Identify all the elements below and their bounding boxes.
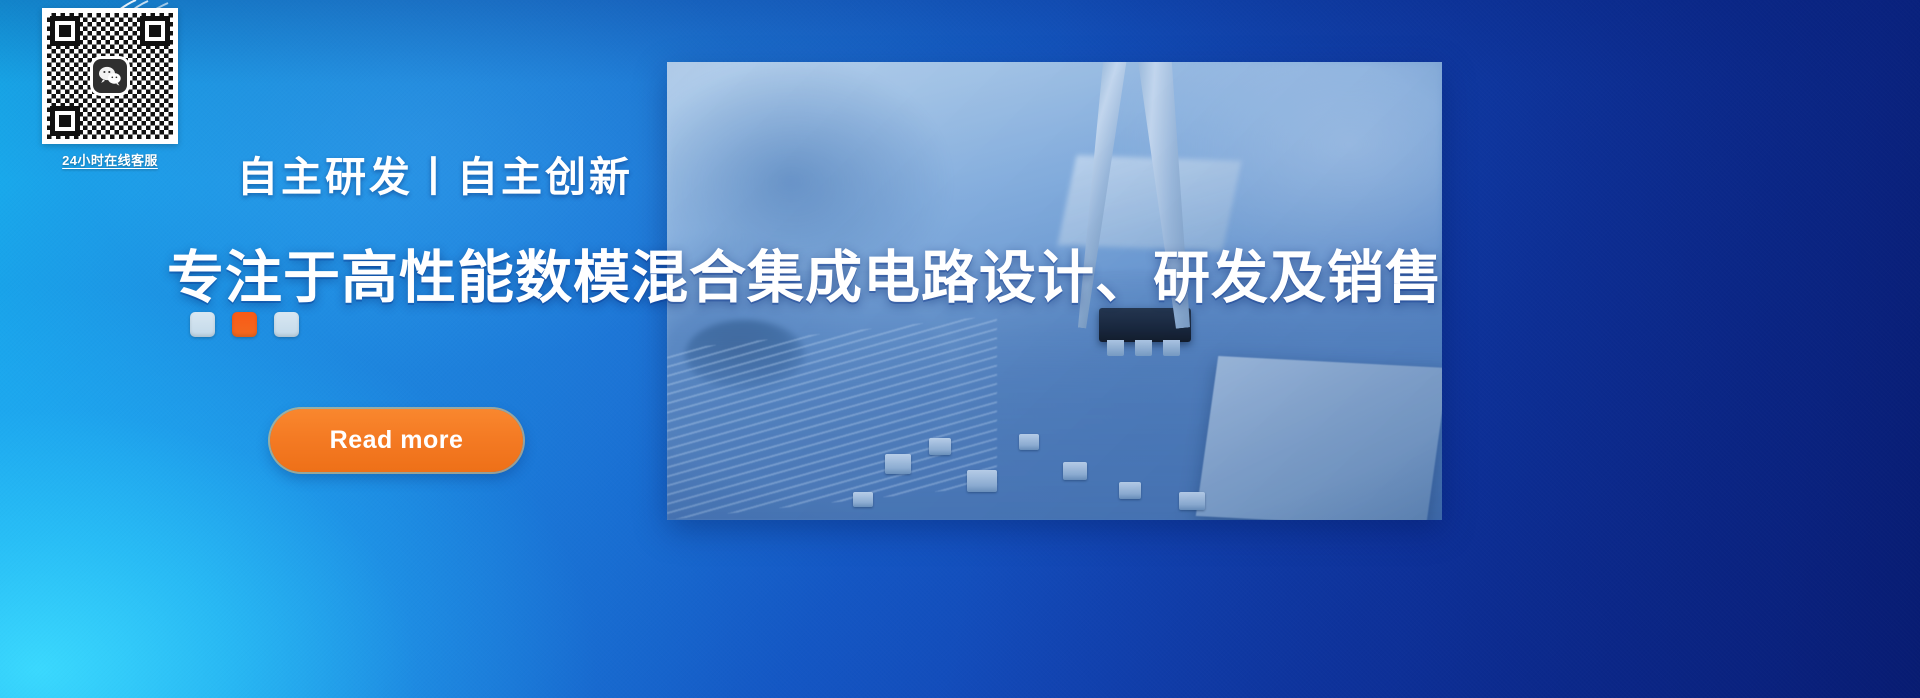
qr-finder-top-left	[50, 16, 80, 46]
carousel-dot-1[interactable]	[190, 312, 215, 337]
carousel-dot-3[interactable]	[274, 312, 299, 337]
qr-code-image[interactable]	[42, 8, 178, 144]
qr-finder-bottom-left	[50, 106, 80, 136]
hero-banner: 24小时在线客服 自主研发丨自主创新 专注于高性能数模混合集成电路设计、研发及销…	[0, 0, 1920, 698]
carousel-dots[interactable]	[190, 312, 299, 337]
customer-service-qr-widget[interactable]: 24小时在线客服	[36, 8, 186, 169]
customer-service-caption[interactable]: 24小时在线客服	[36, 150, 184, 169]
carousel-dot-2-active[interactable]	[232, 312, 257, 337]
hero-headline-text: 专注于高性能数模混合集成电路设计、研发及销售	[167, 232, 1443, 314]
qr-finder-top-right	[140, 16, 170, 46]
hero-eyebrow-text: 自主研发丨自主创新	[237, 143, 633, 203]
read-more-button[interactable]: Read more	[270, 409, 523, 472]
wechat-icon	[93, 59, 127, 93]
